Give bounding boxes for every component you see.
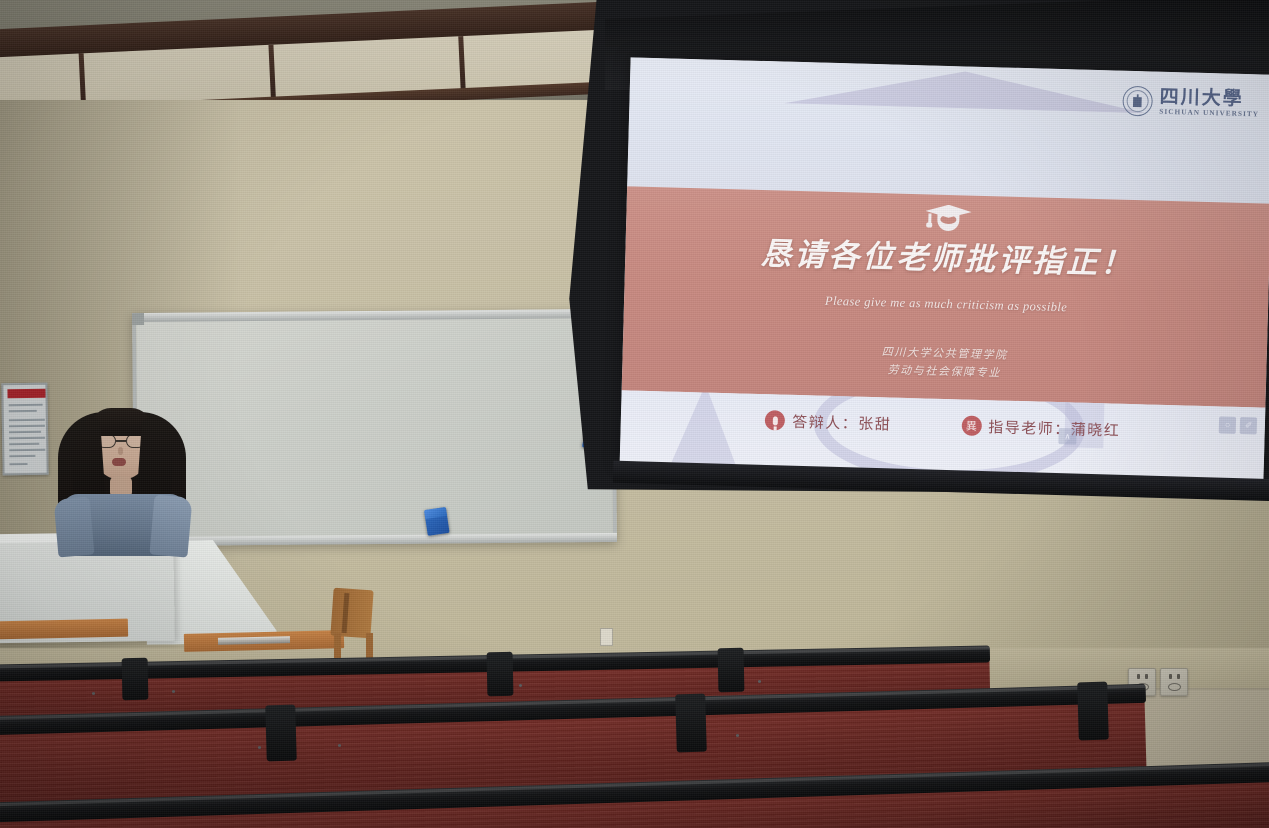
front-table-left: [0, 619, 128, 640]
wall-outlet-right: [1160, 668, 1188, 696]
mountain-graphic: [784, 67, 1145, 113]
presenting-student: [52, 406, 192, 551]
microphone-icon: [765, 410, 786, 431]
eyeglasses: [97, 434, 145, 448]
wall-notice-poster: [1, 383, 48, 476]
wall-switch-plate: [600, 628, 613, 646]
university-name-en: SICHUAN UNIVERSITY: [1159, 108, 1259, 118]
credit-presenter: 答辩人：张甜: [765, 410, 892, 434]
poster-header-bar: [7, 389, 45, 399]
pen-icon[interactable]: ✐: [1240, 417, 1257, 434]
university-logo: 四川大學 SICHUAN UNIVERSITY: [1122, 85, 1260, 119]
projected-slide: 四川大學 SICHUAN UNIVERSITY 恳请各位老师批评指正！ Plea…: [620, 57, 1269, 482]
credit-advisor: 異 指导老师：蒲晓红: [961, 415, 1121, 440]
chair-backrest: [330, 588, 373, 639]
classroom-whiteboard: [132, 309, 617, 546]
lecture-hall-photo: 四川大學 SICHUAN UNIVERSITY 恳请各位老师批评指正！ Plea…: [0, 0, 1269, 828]
advisor-label: 指导老师：蒲晓红: [988, 416, 1121, 441]
seal-badge-icon: 異: [961, 416, 982, 437]
wooden-chair: [326, 589, 380, 659]
slide-top-band: [627, 57, 1269, 203]
projection-screen: 四川大學 SICHUAN UNIVERSITY 恳请各位老师批评指正！ Plea…: [565, 0, 1269, 506]
slide-corner-buttons: ○ ✐: [1219, 416, 1257, 434]
search-icon[interactable]: ○: [1219, 416, 1236, 433]
chevron-up-icon[interactable]: ∧: [1058, 428, 1076, 444]
graduation-cap-icon: [925, 202, 972, 233]
university-name-cn: 四川大學: [1159, 87, 1259, 109]
university-seal-icon: [1122, 85, 1153, 116]
magnetic-eraser-center: [424, 507, 450, 536]
presenter-label: 答辩人：张甜: [792, 411, 892, 435]
